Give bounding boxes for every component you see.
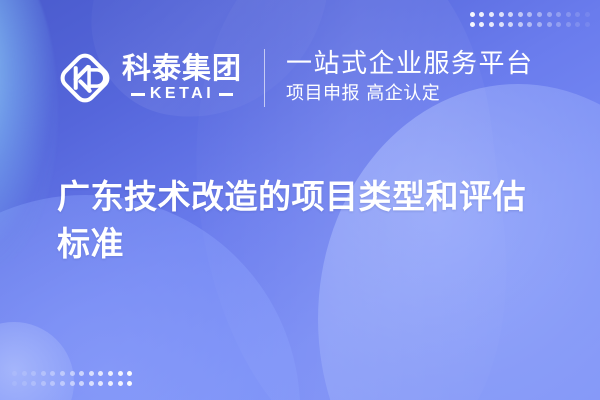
dot (547, 12, 552, 17)
dot (489, 22, 494, 27)
dot (50, 381, 55, 386)
dot-row (470, 12, 590, 17)
dot (479, 12, 484, 17)
dot (98, 371, 103, 376)
dot (79, 371, 84, 376)
dot (127, 381, 132, 386)
dot (489, 12, 494, 17)
dot (70, 371, 75, 376)
dot (575, 12, 580, 17)
promo-banner: 科泰集团 KETAI 一站式企业服务平台 项目申报 高企认定 广东技术改造的项目… (0, 0, 600, 400)
dot-row (12, 371, 132, 376)
logo-company-name-cn: 科泰集团 (122, 54, 242, 84)
dot (127, 371, 132, 376)
page-title: 广东技术改造的项目类型和评估标准 (57, 174, 557, 268)
dot (499, 12, 504, 17)
dot (556, 12, 561, 17)
tagline-primary: 一站式企业服务平台 (286, 50, 534, 79)
dot (518, 12, 523, 17)
logo-wordmark: 科泰集团 KETAI (122, 54, 242, 103)
dot (41, 371, 46, 376)
dot-row (12, 381, 132, 386)
dot (556, 22, 561, 27)
ketai-logo-icon (56, 49, 114, 107)
dot (31, 381, 36, 386)
logo-dash-left (131, 93, 145, 96)
dot (566, 12, 571, 17)
dot (41, 381, 46, 386)
logo-company-name-en: KETAI (150, 86, 214, 102)
dot (31, 371, 36, 376)
dot (60, 381, 65, 386)
dot (108, 371, 113, 376)
logo-company-name-en-wrap: KETAI (131, 86, 233, 102)
dot (508, 12, 513, 17)
dot (89, 381, 94, 386)
dot (518, 22, 523, 27)
tagline-secondary: 项目申报 高企认定 (286, 82, 534, 105)
dot (566, 22, 571, 27)
dot (499, 22, 504, 27)
dot (118, 371, 123, 376)
dot-row (470, 22, 590, 27)
dot (60, 371, 65, 376)
dot (22, 381, 27, 386)
dot (537, 12, 542, 17)
dot (585, 12, 590, 17)
dot (89, 371, 94, 376)
tagline-block: 一站式企业服务平台 项目申报 高企认定 (286, 50, 534, 106)
dot (575, 22, 580, 27)
dot (508, 22, 513, 27)
dot (547, 22, 552, 27)
dot (70, 381, 75, 386)
dot (108, 381, 113, 386)
header-divider (264, 49, 265, 107)
dot (50, 371, 55, 376)
banner-header: 科泰集团 KETAI 一站式企业服务平台 项目申报 高企认定 (56, 44, 534, 112)
dot (12, 371, 17, 376)
dot-grid-bottom-left (12, 371, 132, 386)
dot (22, 371, 27, 376)
dot (118, 381, 123, 386)
dot-grid-top-right (470, 12, 590, 27)
dot (537, 22, 542, 27)
dot (527, 22, 532, 27)
dot (98, 381, 103, 386)
dot (79, 381, 84, 386)
dot (470, 12, 475, 17)
dot (479, 22, 484, 27)
dot (527, 12, 532, 17)
dot (470, 22, 475, 27)
logo-dash-right (219, 93, 233, 96)
dot (12, 381, 17, 386)
dot (585, 22, 590, 27)
